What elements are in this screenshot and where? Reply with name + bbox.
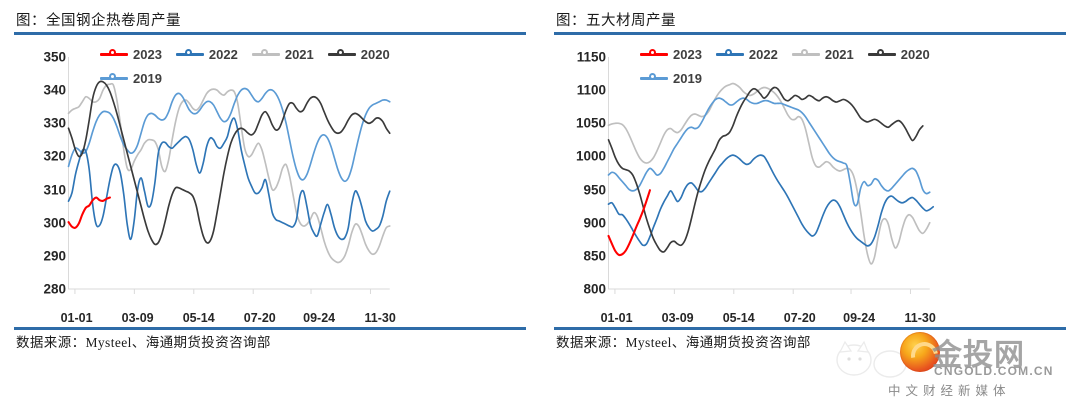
series-line-2020 [609,87,923,252]
legend-label: 2023 [673,47,702,62]
x-tick-label: 09-24 [843,311,875,325]
x-tick-label: 03-09 [662,311,694,325]
panel-right-chart: 20232022202120202019 8008509009501000105… [554,35,1066,327]
legend-marker-icon [716,48,744,60]
legend-marker-icon [868,48,896,60]
panel-right-legend: 20232022202120202019 [640,43,940,89]
axis-spine [69,57,390,289]
panel-left-source: 数据来源：Mysteel、海通期货投资咨询部 [14,330,526,356]
legend-item-2019[interactable]: 2019 [640,67,702,89]
x-tick-label: 09-24 [303,311,335,325]
legend-item-2022[interactable]: 2022 [716,43,778,65]
legend-item-2020[interactable]: 2020 [868,43,930,65]
legend-marker-icon [252,48,280,60]
legend-marker-icon [328,48,356,60]
x-tick-label: 07-20 [244,311,276,325]
panel-left: 图：全国钢企热卷周产量 20232022202120202019 2802903… [0,0,540,400]
x-tick-label: 05-14 [723,311,755,325]
legend-item-2019[interactable]: 2019 [100,67,162,89]
legend-label: 2022 [209,47,238,62]
legend-item-2022[interactable]: 2022 [176,43,238,65]
panel-left-title: 图：全国钢企热卷周产量 [14,10,526,32]
legend-marker-icon [176,48,204,60]
panel-right: 图：五大材周产量 20232022202120202019 8008509009… [540,0,1080,400]
legend-marker-icon [640,48,668,60]
x-tick-label: 11-30 [905,311,936,325]
legend-item-2021[interactable]: 2021 [792,43,854,65]
panel-right-x-axis: 01-0103-0905-1407-2009-2411-30 [554,311,1066,329]
legend-marker-icon [640,72,668,84]
legend-label: 2019 [133,71,162,86]
x-tick-label: 11-30 [365,311,396,325]
legend-item-2020[interactable]: 2020 [328,43,390,65]
legend-label: 2023 [133,47,162,62]
legend-marker-icon [100,48,128,60]
legend-item-2023[interactable]: 2023 [100,43,162,65]
panel-left-x-axis: 01-0103-0905-1407-2009-2411-30 [14,311,526,329]
chart-board: 图：全国钢企热卷周产量 20232022202120202019 2802903… [0,0,1080,400]
legend-label: 2020 [361,47,390,62]
legend-label: 2022 [749,47,778,62]
panel-left-legend: 20232022202120202019 [100,43,400,89]
panel-left-chart: 20232022202120202019 2802903003103203303… [14,35,526,327]
x-tick-label: 01-01 [61,311,93,325]
series-line-2021 [609,84,930,264]
legend-label: 2019 [673,71,702,86]
series-line-2020 [69,81,390,244]
legend-label: 2021 [825,47,854,62]
series-line-2022 [609,155,934,246]
legend-marker-icon [100,72,128,84]
panel-right-source: 数据来源：Mysteel、海通期货投资咨询部 [554,330,1066,356]
legend-label: 2020 [901,47,930,62]
x-tick-label: 07-20 [784,311,816,325]
x-tick-label: 03-09 [122,311,154,325]
legend-marker-icon [792,48,820,60]
legend-item-2021[interactable]: 2021 [252,43,314,65]
x-tick-label: 01-01 [601,311,633,325]
x-tick-label: 05-14 [183,311,215,325]
legend-item-2023[interactable]: 2023 [640,43,702,65]
legend-label: 2021 [285,47,314,62]
panel-right-title: 图：五大材周产量 [554,10,1066,32]
